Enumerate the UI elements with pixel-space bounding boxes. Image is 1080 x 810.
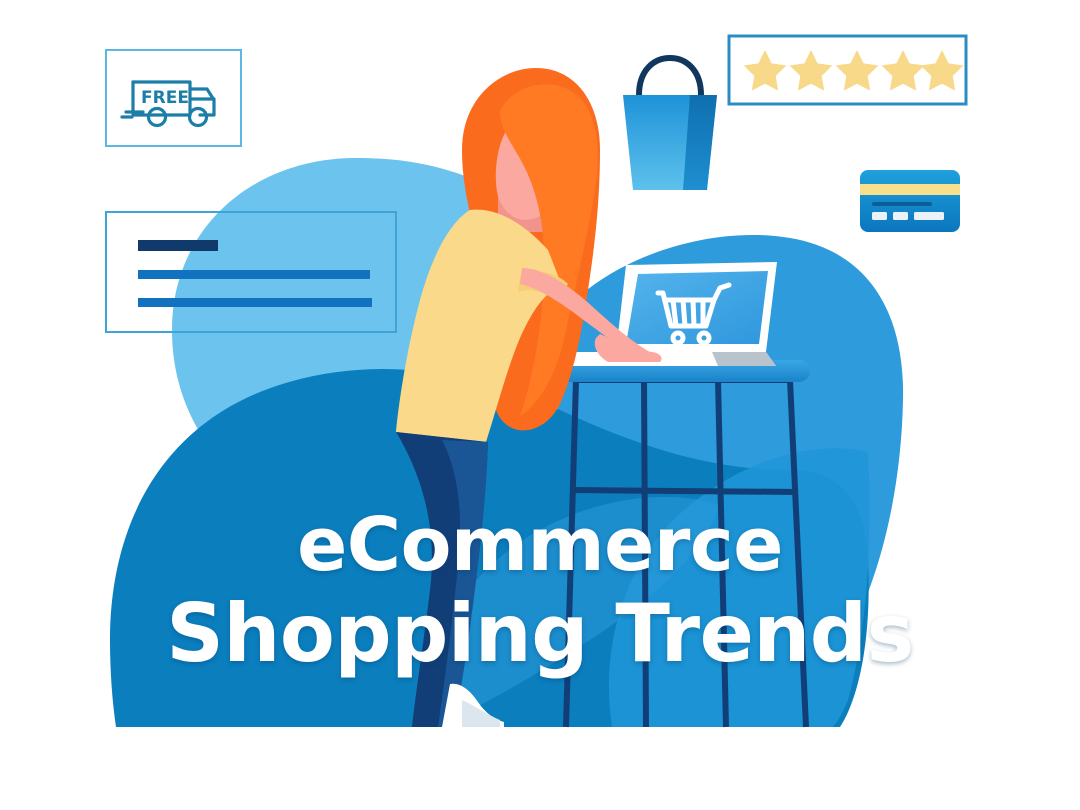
illustration-canvas: FREE [0, 0, 1080, 810]
text-bar-3 [138, 298, 372, 307]
credit-card-icon [860, 170, 960, 232]
rating-badge [729, 36, 966, 104]
shopping-bag-icon [623, 58, 717, 190]
credit-card-body [860, 170, 960, 232]
credit-card-stripe [860, 184, 960, 195]
credit-card-chip [893, 212, 908, 220]
credit-card-chip [914, 212, 944, 220]
text-bar-1 [138, 240, 218, 251]
credit-card-chip [872, 212, 887, 220]
credit-card-line [872, 202, 932, 206]
page-title: eCommerce Shopping Trends [0, 508, 1080, 674]
free-shipping-label: FREE [141, 88, 189, 108]
title-line-1: eCommerce [0, 508, 1080, 582]
text-bar-2 [138, 270, 370, 279]
laptop-screen [626, 271, 768, 344]
ecommerce-illustration: FREE [0, 0, 1080, 810]
laptop-base-shadow [712, 352, 776, 366]
title-line-2: Shopping Trends [0, 594, 1080, 674]
shopping-bag-handle [639, 58, 701, 95]
free-shipping-badge: FREE [106, 50, 241, 146]
